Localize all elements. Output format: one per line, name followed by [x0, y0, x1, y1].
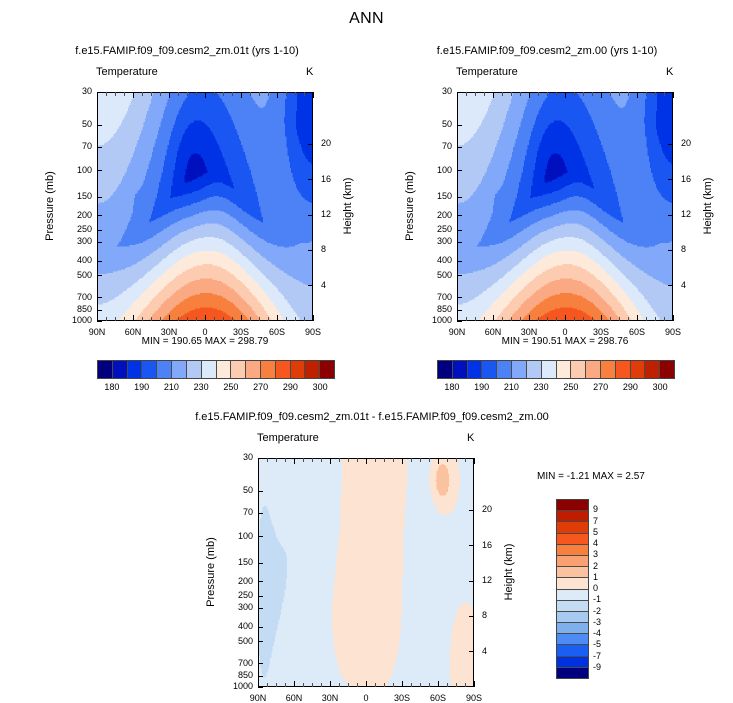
colorbar-cell[interactable] — [557, 634, 588, 645]
y-ticklabel: 150 — [225, 557, 253, 567]
contour-plot-diff[interactable] — [258, 458, 474, 687]
panel-unit-diff: K — [467, 432, 474, 444]
colorbar-ticklabel: 180 — [437, 382, 467, 392]
y-ticklabel: 150 — [424, 191, 452, 201]
colorbar-cell[interactable] — [497, 361, 512, 378]
x-ticklabel: 0 — [350, 693, 382, 703]
colorbar-cell[interactable] — [291, 361, 306, 378]
y-ticklabel: 100 — [64, 165, 92, 175]
colorbar-ticklabel: 300 — [305, 382, 335, 392]
y-ticklabel: 150 — [64, 191, 92, 201]
colorbar-cell[interactable] — [172, 361, 187, 378]
colorbar-ticklabel: 250 — [216, 382, 246, 392]
y2-ticklabel: 16 — [482, 540, 502, 550]
contour-plot-left[interactable] — [97, 92, 313, 321]
colorbar-ticklabel: -9 — [593, 662, 615, 672]
y2-ticklabel: 20 — [482, 504, 502, 514]
x-ticklabel: 30N — [314, 693, 346, 703]
y-ticklabel: 200 — [64, 210, 92, 220]
y-ticklabel: 50 — [64, 119, 92, 129]
y2-axis-label-left: Height (km) — [342, 146, 354, 266]
y-ticklabel: 500 — [64, 270, 92, 280]
colorbar-ticklabel: -2 — [593, 606, 615, 616]
y-axis-label-right: Pressure (mb) — [404, 146, 416, 266]
colorbar-cell[interactable] — [557, 578, 588, 589]
y-ticklabel: 50 — [424, 119, 452, 129]
y-ticklabel: 700 — [225, 658, 253, 668]
colorbar-cell[interactable] — [261, 361, 276, 378]
x-ticklabel: 90S — [458, 693, 490, 703]
panel-title-right: f.e15.FAMIP.f09_f09.cesm2_zm.00 (yrs 1-1… — [382, 45, 712, 57]
colorbar-cell[interactable] — [571, 361, 586, 378]
colorbar-ticklabel: 290 — [275, 382, 305, 392]
y-ticklabel: 300 — [424, 236, 452, 246]
minmax-left: MIN = 190.65 MAX = 298.79 — [97, 336, 313, 347]
y-ticklabel: 400 — [424, 255, 452, 265]
y2-axis-label-diff: Height (km) — [503, 512, 515, 632]
colorbar-ticklabel: 290 — [615, 382, 645, 392]
colorbar-cell[interactable] — [557, 657, 588, 668]
colorbar-cell[interactable] — [557, 590, 588, 601]
colorbar-ticklabel: 5 — [593, 527, 615, 537]
y-ticklabel: 400 — [225, 621, 253, 631]
colorbar-cell[interactable] — [557, 522, 588, 533]
colorbar-ticklabel: -7 — [593, 651, 615, 661]
y-ticklabel: 30 — [64, 86, 92, 96]
y2-ticklabel: 12 — [681, 209, 701, 219]
colorbar-cell[interactable] — [601, 361, 616, 378]
colorbar-ticklabel: 0 — [593, 583, 615, 593]
colorbar-cell[interactable] — [231, 361, 246, 378]
x-ticklabel: 30S — [386, 693, 418, 703]
panel-title-diff: f.e15.FAMIP.f09_f09.cesm2_zm.01t - f.e15… — [142, 411, 602, 423]
panel-unit-left: K — [306, 66, 313, 78]
panel-varname-left: Temperature — [96, 66, 158, 78]
y-ticklabel: 200 — [225, 576, 253, 586]
colorbar-cell[interactable] — [276, 361, 291, 378]
y2-ticklabel: 12 — [321, 209, 341, 219]
colorbar-ticklabel: 9 — [593, 504, 615, 514]
y-ticklabel: 70 — [64, 141, 92, 151]
colorbar-cell[interactable] — [320, 361, 334, 378]
y2-ticklabel: 8 — [321, 244, 341, 254]
colorbar-cell[interactable] — [128, 361, 143, 378]
colorbar-ticklabel: 270 — [586, 382, 616, 392]
colorbar-cell[interactable] — [468, 361, 483, 378]
y-ticklabel: 700 — [64, 292, 92, 302]
colorbar-cell[interactable] — [557, 556, 588, 567]
colorbar-cell[interactable] — [557, 567, 588, 578]
colorbar-cell[interactable] — [542, 361, 557, 378]
y-ticklabel: 1000 — [424, 315, 452, 325]
y2-ticklabel: 4 — [321, 280, 341, 290]
panel-unit-right: K — [666, 66, 673, 78]
y-ticklabel: 300 — [225, 602, 253, 612]
y2-ticklabel: 4 — [482, 646, 502, 656]
colorbar-cell[interactable] — [631, 361, 646, 378]
colorbar-cell[interactable] — [557, 545, 588, 556]
colorbar-cell[interactable] — [98, 361, 113, 378]
y-ticklabel: 30 — [424, 86, 452, 96]
y-ticklabel: 850 — [64, 304, 92, 314]
x-ticklabel: 90N — [242, 693, 274, 703]
colorbar-cell[interactable] — [557, 361, 572, 378]
colorbar-ticklabel: 210 — [496, 382, 526, 392]
y-ticklabel: 850 — [424, 304, 452, 314]
colorbar-ticklabel: 250 — [556, 382, 586, 392]
colorbar-cell[interactable] — [305, 361, 320, 378]
colorbar-cell[interactable] — [660, 361, 674, 378]
colorbar-cell[interactable] — [557, 623, 588, 634]
y-ticklabel: 250 — [64, 224, 92, 234]
panel-varname-right: Temperature — [456, 66, 518, 78]
colorbar-cell[interactable] — [527, 361, 542, 378]
colorbar-cell[interactable] — [616, 361, 631, 378]
colorbar-ticklabel: 210 — [156, 382, 186, 392]
colorbar-cell[interactable] — [557, 668, 588, 678]
colorbar-cell[interactable] — [157, 361, 172, 378]
colorbar-ticklabel: 230 — [526, 382, 556, 392]
y2-ticklabel: 4 — [681, 280, 701, 290]
minmax-diff: MIN = -1.21 MAX = 2.57 — [537, 471, 645, 482]
colorbar-ticklabel: 3 — [593, 549, 615, 559]
y-ticklabel: 70 — [424, 141, 452, 151]
colorbar-cell[interactable] — [142, 361, 157, 378]
y2-ticklabel: 8 — [482, 610, 502, 620]
colorbar-cell[interactable] — [187, 361, 202, 378]
colorbar-cell[interactable] — [557, 612, 588, 623]
colorbar-cell[interactable] — [453, 361, 468, 378]
colorbar-ticklabel: 190 — [467, 382, 497, 392]
colorbar-cell[interactable] — [202, 361, 217, 378]
colorbar-right[interactable] — [437, 360, 675, 379]
y-ticklabel: 300 — [64, 236, 92, 246]
colorbar-ticklabel: 2 — [593, 561, 615, 571]
y-axis-label-left: Pressure (mb) — [44, 146, 56, 266]
x-ticklabel: 60S — [422, 693, 454, 703]
x-ticklabel: 60N — [278, 693, 310, 703]
panel-varname-diff: Temperature — [257, 432, 319, 444]
y-ticklabel: 850 — [225, 670, 253, 680]
y2-axis-label-right: Height (km) — [702, 146, 714, 266]
y-ticklabel: 50 — [225, 485, 253, 495]
colorbar-cell[interactable] — [113, 361, 128, 378]
y2-ticklabel: 16 — [681, 174, 701, 184]
y-ticklabel: 500 — [225, 636, 253, 646]
colorbar-ticklabel: -3 — [593, 617, 615, 627]
colorbar-cell[interactable] — [557, 511, 588, 522]
colorbar-cell[interactable] — [512, 361, 527, 378]
colorbar-ticklabel: 300 — [645, 382, 675, 392]
colorbar-cell[interactable] — [645, 361, 660, 378]
colorbar-ticklabel: 1 — [593, 572, 615, 582]
colorbar-cell[interactable] — [557, 500, 588, 511]
colorbar-cell[interactable] — [557, 645, 588, 656]
colorbar-cell[interactable] — [482, 361, 497, 378]
colorbar-cell[interactable] — [586, 361, 601, 378]
colorbar-ticklabel: 4 — [593, 538, 615, 548]
y-axis-label-diff: Pressure (mb) — [205, 512, 217, 632]
y-ticklabel: 100 — [424, 165, 452, 175]
colorbar-ticklabel: 230 — [186, 382, 216, 392]
colorbar-ticklabel: 180 — [97, 382, 127, 392]
colorbar-diff[interactable] — [556, 499, 589, 679]
contour-plot-right[interactable] — [457, 92, 673, 321]
colorbar-ticklabel: -5 — [593, 639, 615, 649]
y-ticklabel: 1000 — [225, 681, 253, 691]
y-ticklabel: 250 — [424, 224, 452, 234]
y-ticklabel: 1000 — [64, 315, 92, 325]
y2-ticklabel: 8 — [681, 244, 701, 254]
colorbar-ticklabel: -4 — [593, 628, 615, 638]
y-ticklabel: 100 — [225, 531, 253, 541]
colorbar-ticklabel: 190 — [127, 382, 157, 392]
y-ticklabel: 200 — [424, 210, 452, 220]
y-ticklabel: 70 — [225, 507, 253, 517]
colorbar-ticklabel: 7 — [593, 516, 615, 526]
colorbar-left[interactable] — [97, 360, 335, 379]
y2-ticklabel: 12 — [482, 575, 502, 585]
colorbar-cell[interactable] — [246, 361, 261, 378]
y-ticklabel: 700 — [424, 292, 452, 302]
colorbar-cell[interactable] — [217, 361, 232, 378]
y2-ticklabel: 16 — [321, 174, 341, 184]
y-ticklabel: 250 — [225, 590, 253, 600]
colorbar-ticklabel: -1 — [593, 594, 615, 604]
colorbar-cell[interactable] — [557, 601, 588, 612]
y-ticklabel: 30 — [225, 452, 253, 462]
main-title: ANN — [0, 10, 733, 28]
panel-title-left: f.e15.FAMIP.f09_f09.cesm2_zm.01t (yrs 1-… — [22, 45, 352, 57]
y2-ticklabel: 20 — [681, 138, 701, 148]
y2-ticklabel: 20 — [321, 138, 341, 148]
y-ticklabel: 500 — [424, 270, 452, 280]
colorbar-ticklabel: 270 — [246, 382, 276, 392]
minmax-right: MIN = 190.51 MAX = 298.76 — [457, 336, 673, 347]
colorbar-cell[interactable] — [438, 361, 453, 378]
y-ticklabel: 400 — [64, 255, 92, 265]
colorbar-cell[interactable] — [557, 534, 588, 545]
